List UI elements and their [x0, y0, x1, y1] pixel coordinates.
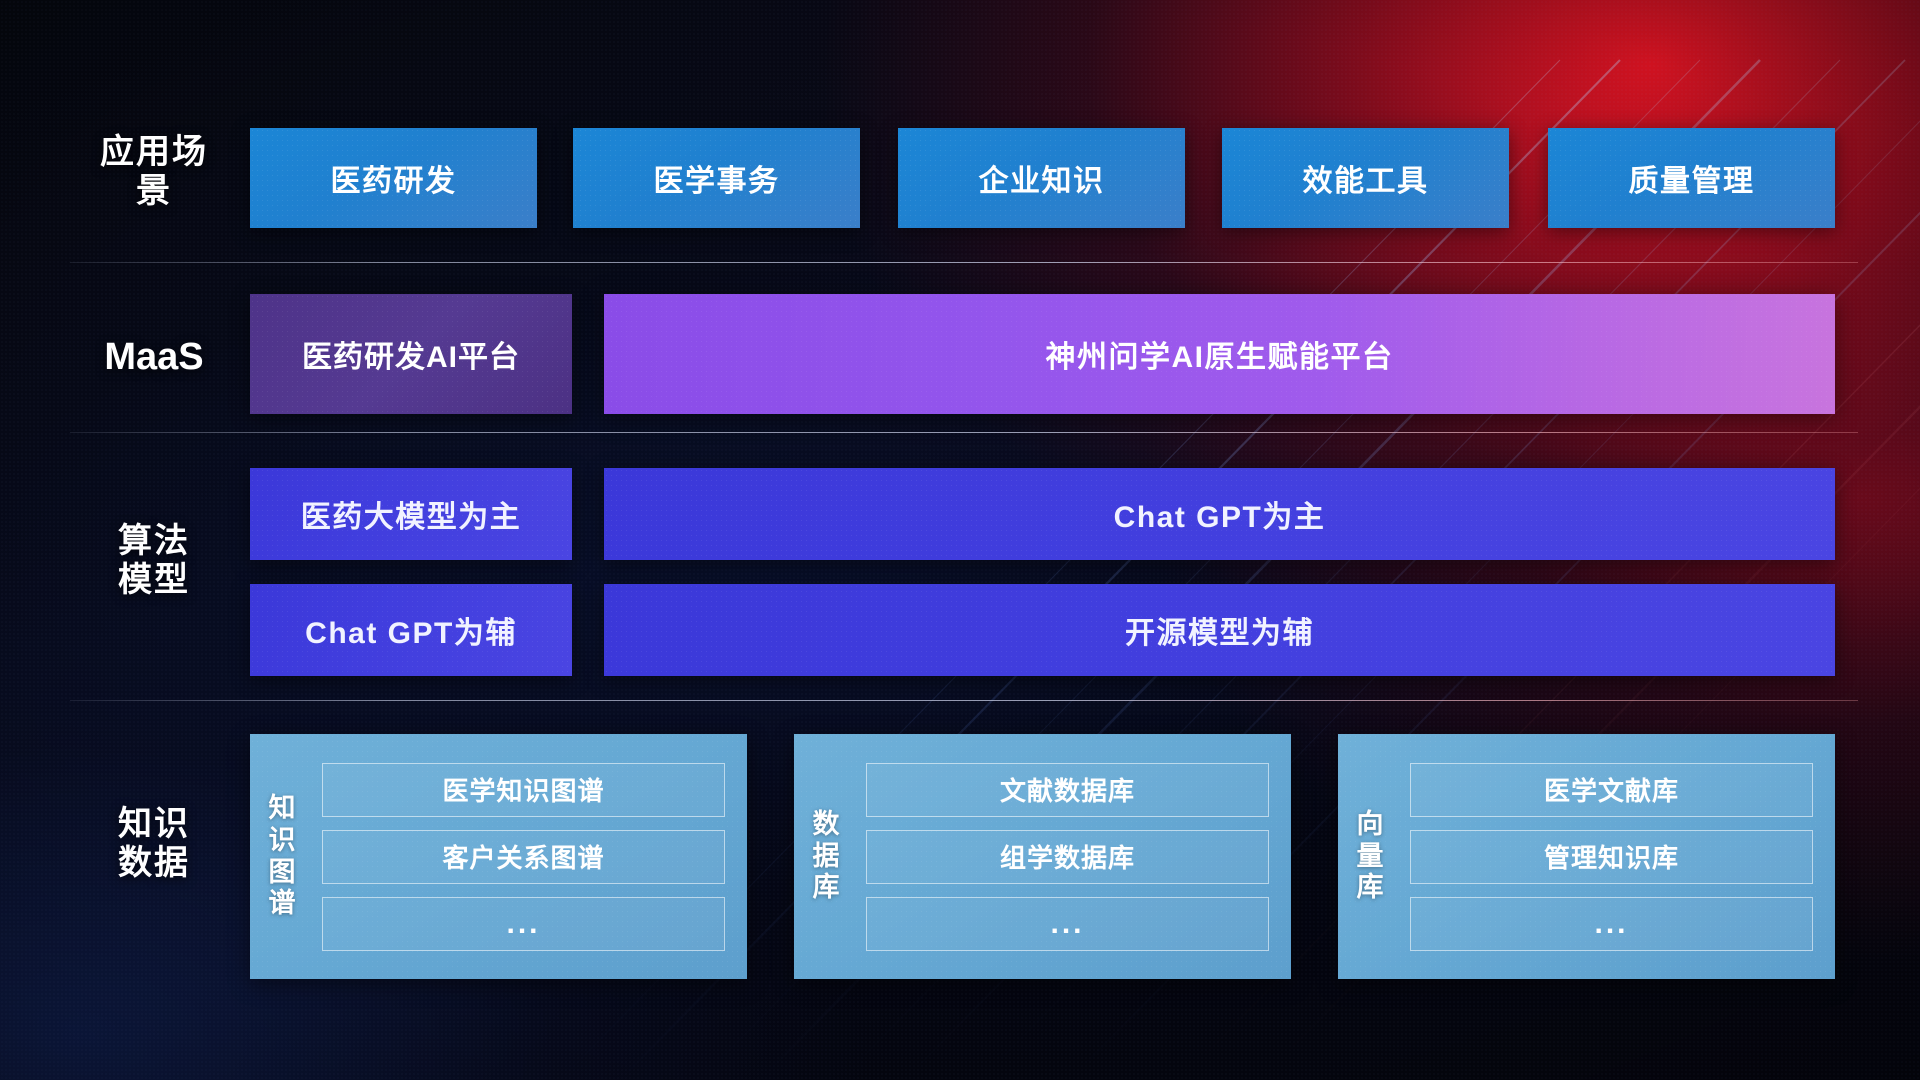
divider-maas-algorithm [70, 432, 1858, 433]
algorithm-box-left-1[interactable]: 医药大模型为主 [250, 468, 572, 560]
algorithm-label: Chat GPT为辅 [305, 608, 517, 652]
app-scenario-label: 医学事务 [654, 156, 780, 200]
knowledge-item[interactable]: 客户关系图谱 [322, 830, 725, 884]
app-scenario-box-2[interactable]: 医学事务 [573, 128, 860, 228]
app-scenario-box-4[interactable]: 效能工具 [1222, 128, 1509, 228]
app-scenario-label: 效能工具 [1303, 156, 1429, 200]
maas-right-label: 神州问学AI原生赋能平台 [1046, 332, 1394, 376]
row-label-knowledge-line2: 数据 [84, 844, 224, 883]
knowledge-group-items: 医学文献库 管理知识库 ... [1402, 763, 1835, 951]
knowledge-item-more[interactable]: ... [866, 897, 1269, 951]
knowledge-item-more[interactable]: ... [1410, 897, 1813, 951]
knowledge-item[interactable]: 医学知识图谱 [322, 763, 725, 817]
knowledge-group-items: 医学知识图谱 客户关系图谱 ... [314, 763, 747, 951]
algorithm-box-right-1[interactable]: Chat GPT为主 [604, 468, 1835, 560]
knowledge-item[interactable]: 文献数据库 [866, 763, 1269, 817]
maas-platform-box-right[interactable]: 神州问学AI原生赋能平台 [604, 294, 1835, 414]
app-scenario-label: 医药研发 [331, 156, 457, 200]
row-label-knowledge-line1: 知识 [84, 805, 224, 844]
knowledge-group-vector[interactable]: 向量库 医学文献库 管理知识库 ... [1338, 734, 1835, 979]
knowledge-group-vertical-label: 向量库 [1338, 809, 1402, 905]
knowledge-group-database[interactable]: 数据库 文献数据库 组学数据库 ... [794, 734, 1291, 979]
algorithm-box-left-2[interactable]: Chat GPT为辅 [250, 584, 572, 676]
knowledge-group-vertical-label: 知识图谱 [250, 793, 314, 920]
algorithm-label: Chat GPT为主 [1114, 492, 1326, 536]
knowledge-item[interactable]: 组学数据库 [866, 830, 1269, 884]
architecture-diagram: 应用场景 医药研发 医学事务 企业知识 效能工具 质量管理 MaaS 医药研发A… [0, 0, 1920, 1080]
app-scenario-box-3[interactable]: 企业知识 [898, 128, 1185, 228]
algorithm-box-right-2[interactable]: 开源模型为辅 [604, 584, 1835, 676]
row-label-maas: MaaS [84, 335, 224, 379]
row-label-algorithm-line1: 算法 [84, 522, 224, 561]
algorithm-label: 开源模型为辅 [1125, 608, 1314, 652]
row-label-algorithm-line2: 模型 [84, 561, 224, 600]
app-scenario-label: 企业知识 [979, 156, 1105, 200]
divider-application-maas [70, 262, 1858, 263]
row-label-knowledge: 知识 数据 [84, 805, 224, 884]
app-scenario-box-5[interactable]: 质量管理 [1548, 128, 1835, 228]
maas-platform-box-left[interactable]: 医药研发AI平台 [250, 294, 572, 414]
maas-left-label: 医药研发AI平台 [302, 332, 520, 376]
app-scenario-box-1[interactable]: 医药研发 [250, 128, 537, 228]
algorithm-label: 医药大模型为主 [301, 492, 522, 536]
row-label-algorithm: 算法 模型 [84, 522, 224, 601]
app-scenario-label: 质量管理 [1629, 156, 1755, 200]
knowledge-item[interactable]: 医学文献库 [1410, 763, 1813, 817]
knowledge-group-vertical-label: 数据库 [794, 809, 858, 905]
knowledge-item-more[interactable]: ... [322, 897, 725, 951]
knowledge-item[interactable]: 管理知识库 [1410, 830, 1813, 884]
divider-algorithm-knowledge [70, 700, 1858, 701]
knowledge-group-items: 文献数据库 组学数据库 ... [858, 763, 1291, 951]
row-label-application: 应用场景 [84, 133, 224, 212]
knowledge-group-graph[interactable]: 知识图谱 医学知识图谱 客户关系图谱 ... [250, 734, 747, 979]
